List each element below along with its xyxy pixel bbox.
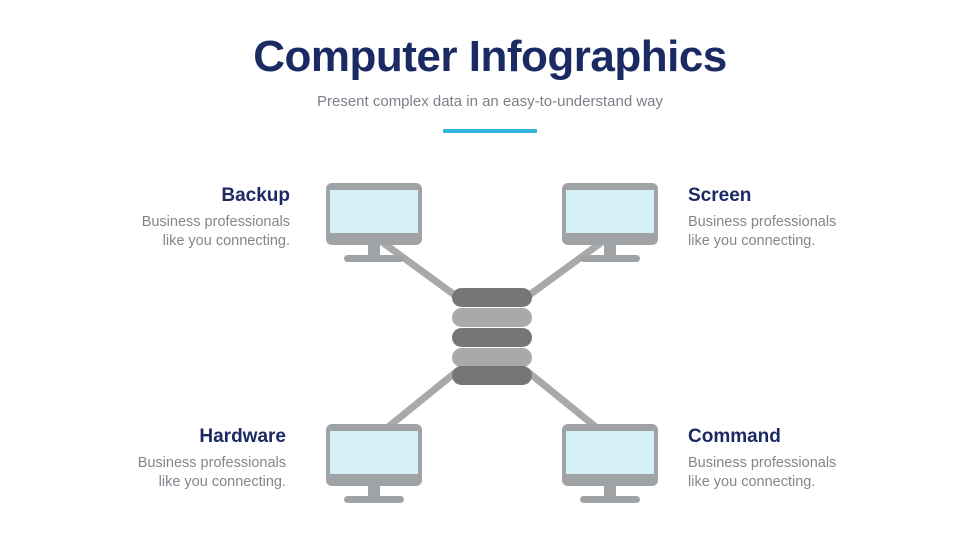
node-label-command[interactable]: Command Business professionals like you …	[688, 426, 918, 493]
node-title-hardware: Hardware	[56, 426, 286, 448]
server-bar-2	[452, 308, 532, 327]
node-description-line-1: Business professionals	[138, 455, 286, 471]
server-bar-3	[452, 328, 532, 347]
server-bar-5	[452, 366, 532, 385]
node-label-backup[interactable]: Backup Business professionals like you c…	[60, 185, 290, 252]
node-description-backup: Business professionals like you connecti…	[60, 213, 290, 252]
monitor-base	[344, 496, 404, 503]
server-bar-1	[452, 288, 532, 307]
node-description-line-2: like you connecting.	[163, 233, 290, 249]
node-description-line-2: like you connecting.	[159, 474, 286, 490]
node-title-command: Command	[688, 426, 918, 448]
monitor-icon-screen[interactable]	[562, 183, 658, 262]
connector-line-screen	[528, 242, 602, 296]
node-label-screen[interactable]: Screen Business professionals like you c…	[688, 185, 918, 252]
monitor-screen	[566, 431, 654, 474]
node-description-line-2: like you connecting.	[688, 233, 815, 249]
server-bar-4	[452, 348, 532, 367]
monitor-screen	[330, 190, 418, 233]
node-label-hardware[interactable]: Hardware Business professionals like you…	[56, 426, 286, 493]
connector-line-hardware	[382, 372, 456, 432]
infographic-slide: Computer Infographics Present complex da…	[0, 0, 980, 551]
monitor-screen	[566, 190, 654, 233]
node-description-line-1: Business professionals	[688, 214, 836, 230]
node-title-screen: Screen	[688, 185, 918, 207]
monitor-icon-backup[interactable]	[326, 183, 422, 262]
node-description-screen: Business professionals like you connecti…	[688, 213, 918, 252]
monitor-base	[580, 255, 640, 262]
monitor-icon-command[interactable]	[562, 424, 658, 503]
diagram-stage: Backup Business professionals like you c…	[0, 0, 980, 551]
connector-line-command	[528, 372, 602, 432]
node-title-backup: Backup	[60, 185, 290, 207]
monitor-screen	[330, 431, 418, 474]
monitor-base	[580, 496, 640, 503]
node-description-hardware: Business professionals like you connecti…	[56, 454, 286, 493]
monitor-icon-hardware[interactable]	[326, 424, 422, 503]
connector-line-backup	[382, 242, 456, 296]
node-description-command: Business professionals like you connecti…	[688, 454, 918, 493]
monitor-base	[344, 255, 404, 262]
node-description-line-2: like you connecting.	[688, 474, 815, 490]
node-description-line-1: Business professionals	[688, 455, 836, 471]
node-description-line-1: Business professionals	[142, 214, 290, 230]
server-stack-icon[interactable]	[452, 288, 532, 385]
